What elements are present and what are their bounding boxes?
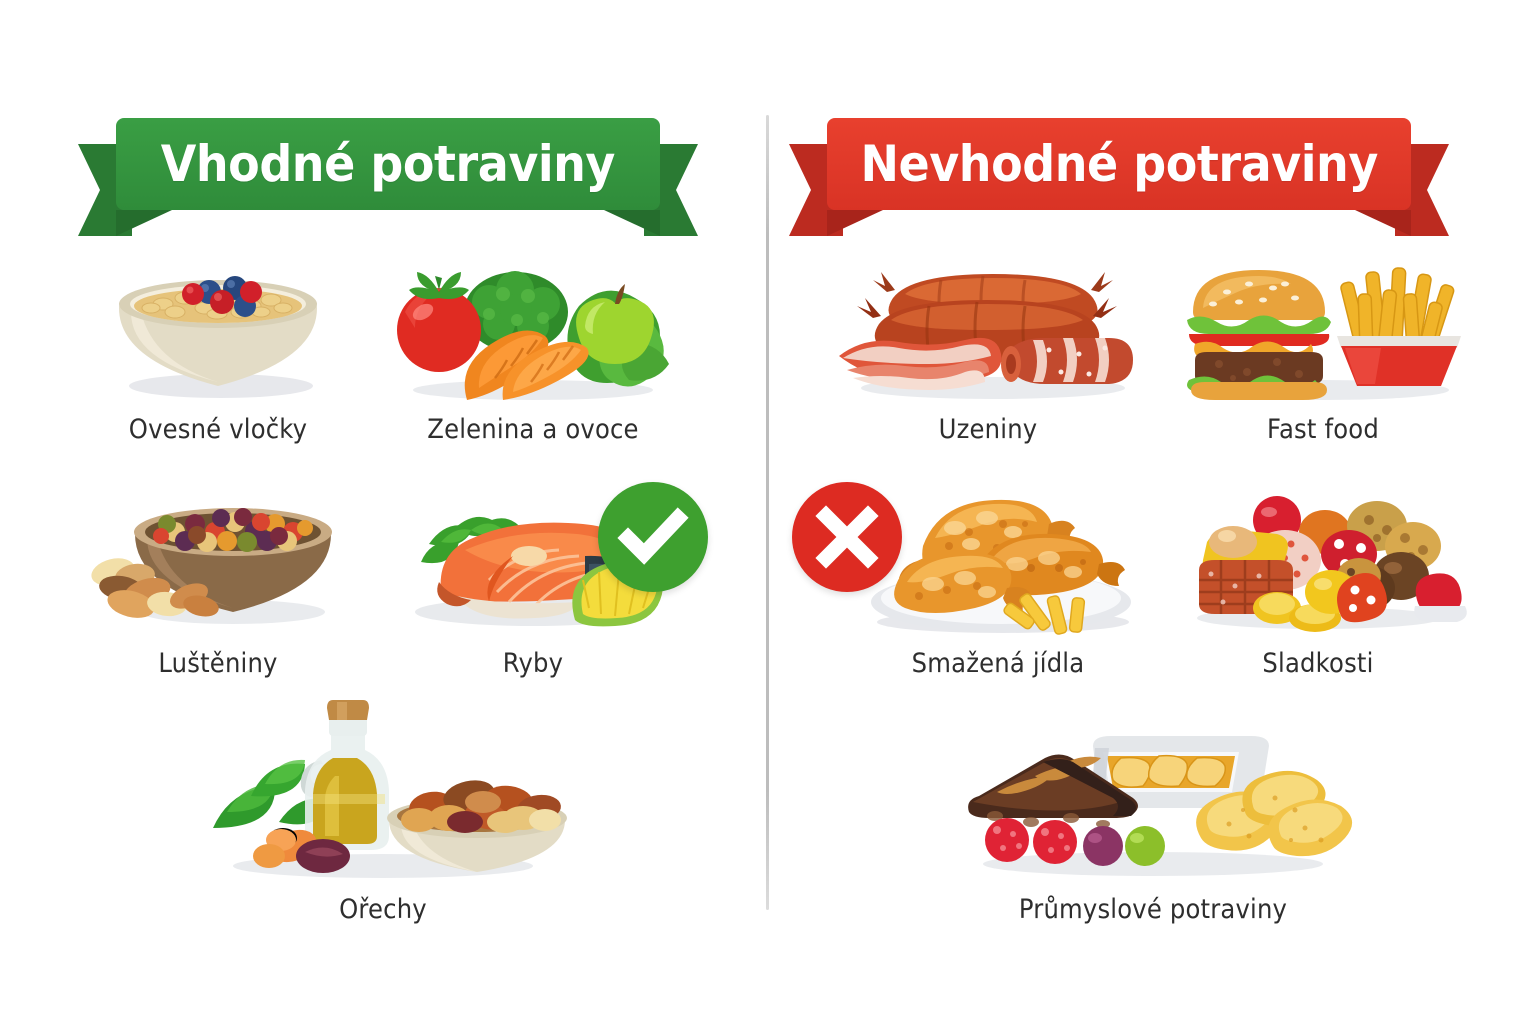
good-row-3: Ořechy (0, 700, 766, 920)
good-banner-body: Vhodné potraviny (116, 118, 660, 210)
food-label: Luštěniny (83, 648, 353, 679)
bad-banner-title: Nevhodné potraviny (860, 135, 1377, 193)
check-icon (616, 500, 690, 574)
food-card-nuts[interactable]: Ořechy (173, 700, 593, 920)
ribbon-fold-left-icon (827, 210, 883, 236)
food-label: Ovesné vločky (83, 414, 353, 445)
candies-pile-icon (1163, 484, 1473, 634)
food-label: Průmyslové potraviny (941, 894, 1364, 925)
cross-icon (814, 504, 880, 570)
food-label: Ryby (385, 648, 682, 679)
vegetables-fruit-icon (368, 250, 698, 400)
food-label: Fast food (1174, 414, 1471, 445)
approved-badge (598, 482, 708, 592)
food-label: Sladkosti (1178, 648, 1457, 679)
ribbon-fold-left-icon (116, 210, 172, 236)
bad-foods-grid: Uzeniny (769, 250, 1536, 920)
processed-foods-icon (918, 700, 1388, 880)
food-card-vegetables[interactable]: Zelenina a ovoce (368, 250, 698, 470)
food-label: Uzeniny (835, 414, 1141, 445)
legumes-bowl-icon (68, 484, 368, 634)
ribbon-fold-right-icon (1355, 210, 1411, 236)
food-card-processed[interactable]: Průmyslové potraviny (918, 700, 1388, 920)
food-card-sweets[interactable]: Sladkosti (1163, 484, 1473, 704)
bad-row-3: Průmyslové potraviny (769, 700, 1536, 920)
food-label: Ořechy (194, 894, 572, 925)
food-card-oatmeal[interactable]: Ovesné vločky (68, 250, 368, 470)
good-row-1: Ovesné vločky (0, 250, 766, 470)
good-banner-title: Vhodné potraviny (161, 135, 615, 193)
food-label: Smažená jídla (849, 648, 1146, 679)
ribbon-fold-right-icon (604, 210, 660, 236)
bad-banner: Nevhodné potraviny (789, 118, 1449, 236)
bad-banner-body: Nevhodné potraviny (827, 118, 1411, 210)
nuts-and-oil-icon (173, 700, 593, 880)
food-card-fastfood[interactable]: Fast food (1158, 250, 1488, 470)
bad-row-1: Uzeniny (769, 250, 1536, 470)
food-card-sausages[interactable]: Uzeniny (818, 250, 1158, 470)
burger-fries-icon (1158, 250, 1488, 400)
sausages-bacon-icon (818, 250, 1158, 400)
food-label: Zelenina a ovoce (385, 414, 682, 445)
rejected-badge (792, 482, 902, 592)
infographic-page: Vhodné potraviny (0, 0, 1536, 1024)
oatmeal-bowl-icon (68, 250, 368, 400)
good-banner: Vhodné potraviny (78, 118, 698, 236)
food-card-legumes[interactable]: Luštěniny (68, 484, 368, 704)
